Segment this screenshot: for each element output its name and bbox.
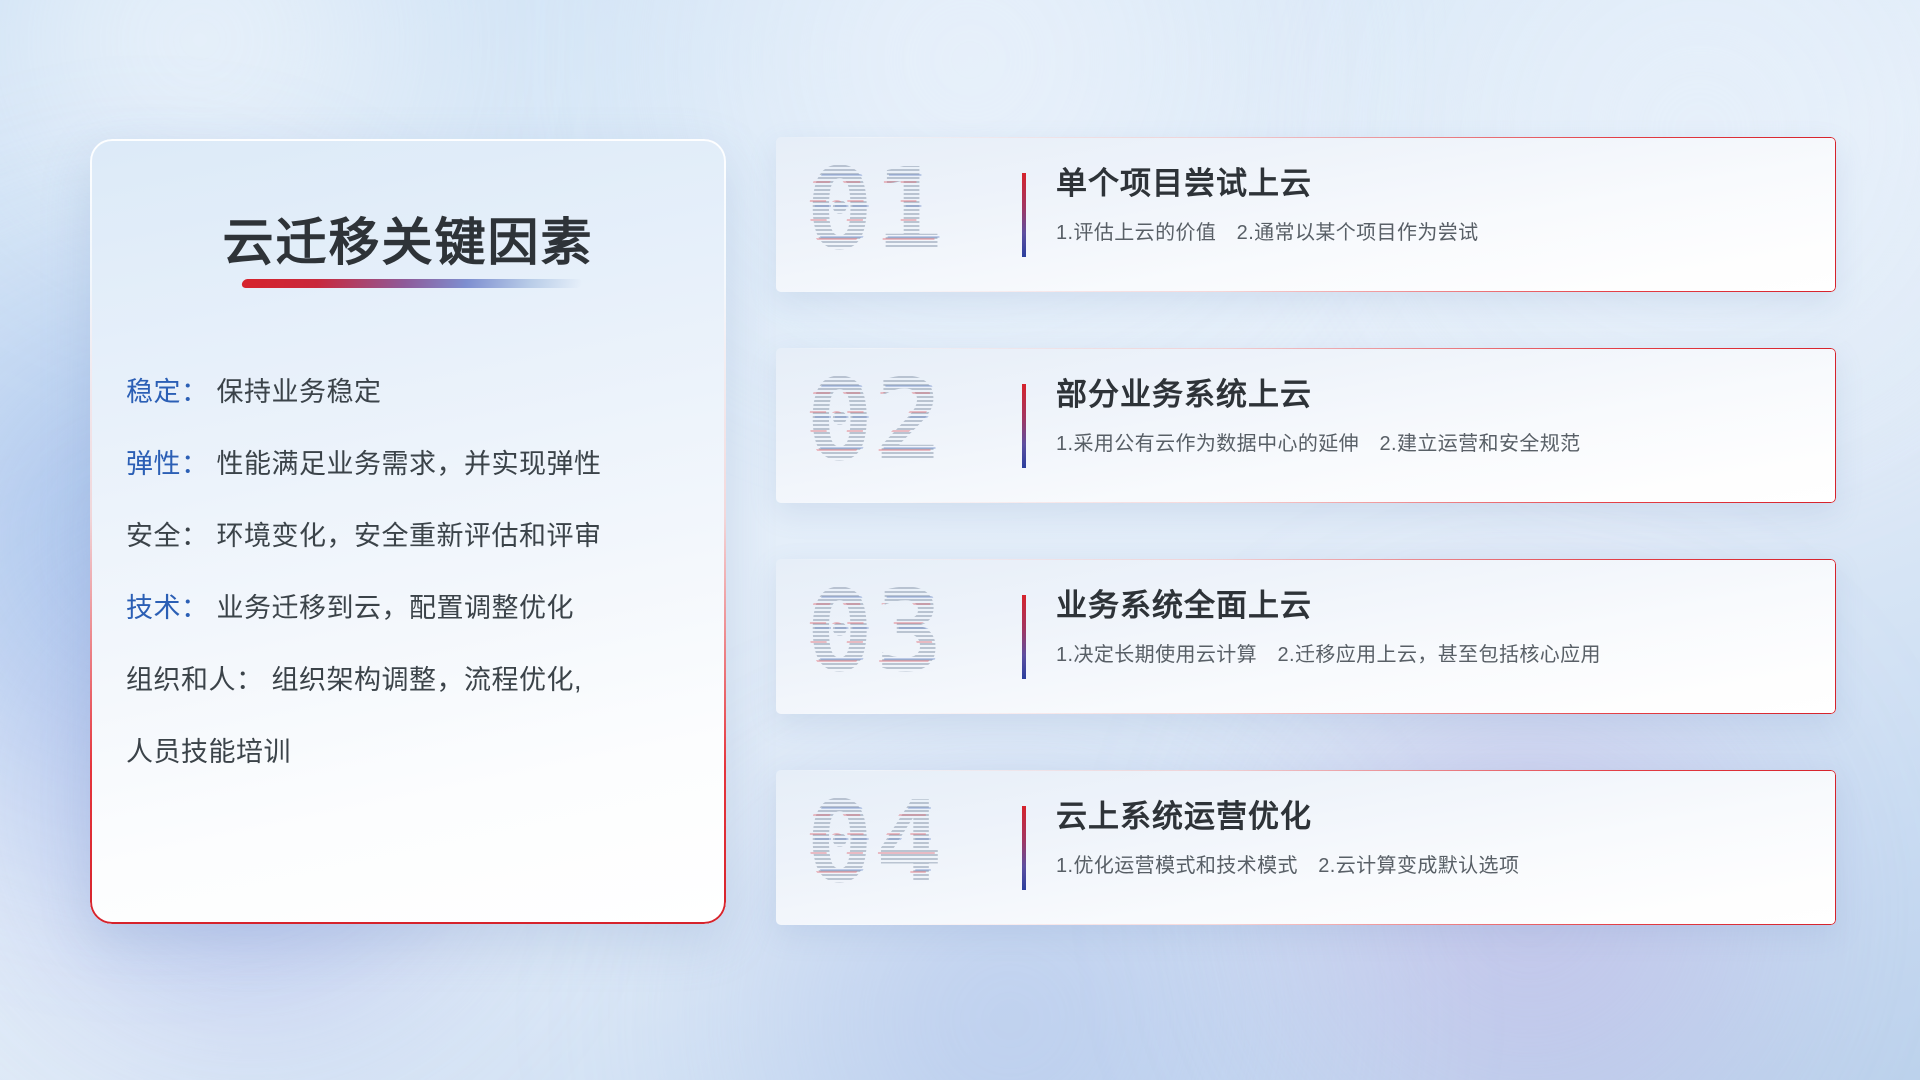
card-body: 单个项目尝试上云1.评估上云的价值 2.通常以某个项目作为尝试 <box>1056 165 1812 245</box>
card-divider <box>1022 384 1026 468</box>
key-factor-text: 环境变化，安全重新评估和评审 <box>217 521 602 551</box>
key-factor-item: 安全： 环境变化，安全重新评估和评审 <box>126 523 700 550</box>
key-factor-text: 性能满足业务需求，并实现弹性 <box>217 449 602 479</box>
cloud-migration-stages: 010101单个项目尝试上云1.评估上云的价值 2.通常以某个项目作为尝试020… <box>776 137 1836 981</box>
key-factor-label: 技术： <box>126 593 209 623</box>
key-factors-panel: 云迁移关键因素 稳定： 保持业务稳定弹性： 性能满足业务需求，并实现弹性安全： … <box>90 139 726 924</box>
card-description: 1.采用公有云作为数据中心的延伸 2.建立运营和安全规范 <box>1056 427 1812 456</box>
stage-number-glyph-layer: 04 <box>808 784 996 908</box>
card-divider <box>1022 595 1026 679</box>
card-body: 部分业务系统上云1.采用公有云作为数据中心的延伸 2.建立运营和安全规范 <box>1056 376 1812 456</box>
card-title: 部分业务系统上云 <box>1056 376 1812 413</box>
title-underline-accent <box>241 279 583 288</box>
key-factor-text: 业务迁移到云，配置调整优化 <box>217 593 575 623</box>
key-factor-item: 稳定： 保持业务稳定 <box>126 379 700 406</box>
stage-number-glyph-layer: 01 <box>808 151 996 275</box>
key-factor-text: 保持业务稳定 <box>217 377 382 407</box>
key-factor-item: 组织和人： 组织架构调整，流程优化, <box>126 667 700 694</box>
card-title: 业务系统全面上云 <box>1056 587 1812 624</box>
key-factors-list: 稳定： 保持业务稳定弹性： 性能满足业务需求，并实现弹性安全： 环境变化，安全重… <box>126 379 700 766</box>
stage-card[interactable]: 040404云上系统运营优化1.优化运营模式和技术模式 2.云计算变成默认选项 <box>776 770 1836 925</box>
stage-number: 020202 <box>806 362 996 490</box>
card-description: 1.评估上云的价值 2.通常以某个项目作为尝试 <box>1056 216 1812 245</box>
card-description: 1.决定长期使用云计算 2.迁移应用上云，甚至包括核心应用 <box>1056 638 1812 667</box>
stage-number: 010101 <box>806 151 996 279</box>
card-divider <box>1022 806 1026 890</box>
key-factor-item: 弹性： 性能满足业务需求，并实现弹性 <box>126 451 700 478</box>
stage-number: 030303 <box>806 573 996 701</box>
card-body: 业务系统全面上云1.决定长期使用云计算 2.迁移应用上云，甚至包括核心应用 <box>1056 587 1812 667</box>
card-description: 1.优化运营模式和技术模式 2.云计算变成默认选项 <box>1056 849 1812 878</box>
key-factor-label: 安全： <box>126 521 209 551</box>
key-factor-label: 弹性： <box>126 449 209 479</box>
card-title: 云上系统运营优化 <box>1056 798 1812 835</box>
page-title: 云迁移关键因素 <box>90 201 726 275</box>
card-body: 云上系统运营优化1.优化运营模式和技术模式 2.云计算变成默认选项 <box>1056 798 1812 878</box>
card-title: 单个项目尝试上云 <box>1056 165 1812 202</box>
stage-number-glyph-layer: 02 <box>808 362 996 486</box>
stage-card[interactable]: 030303业务系统全面上云1.决定长期使用云计算 2.迁移应用上云，甚至包括核… <box>776 559 1836 714</box>
key-factor-label: 稳定： <box>126 377 209 407</box>
key-factor-text: 组织架构调整，流程优化, <box>272 665 583 695</box>
key-factor-label: 组织和人： <box>126 665 264 695</box>
stage-card[interactable]: 010101单个项目尝试上云1.评估上云的价值 2.通常以某个项目作为尝试 <box>776 137 1836 292</box>
stage-number-glyph-layer: 03 <box>808 573 996 697</box>
stage-card[interactable]: 020202部分业务系统上云1.采用公有云作为数据中心的延伸 2.建立运营和安全… <box>776 348 1836 503</box>
key-factor-text: 人员技能培训 <box>126 737 291 767</box>
stage-number: 040404 <box>806 784 996 912</box>
card-divider <box>1022 173 1026 257</box>
key-factor-item: 技术： 业务迁移到云，配置调整优化 <box>126 595 700 622</box>
key-factor-item: 人员技能培训 <box>126 739 700 766</box>
